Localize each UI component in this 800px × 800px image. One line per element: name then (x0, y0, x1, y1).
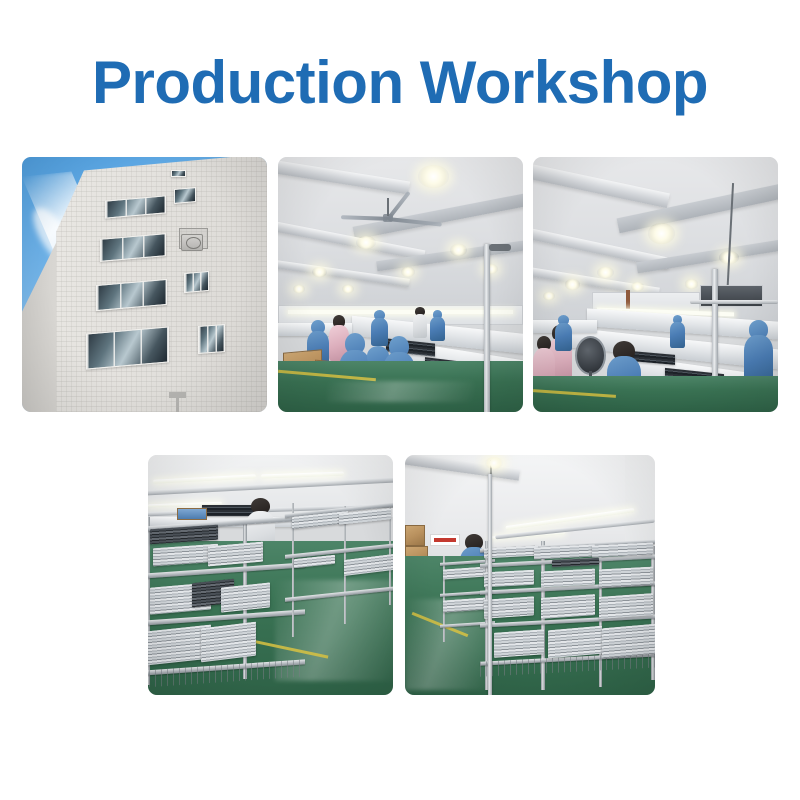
highbay-light (418, 165, 450, 188)
laptop-chassis-stack (201, 622, 256, 662)
window (171, 170, 186, 178)
laptop-chassis-stack (344, 554, 393, 576)
storage-rack (148, 517, 305, 685)
support-post (484, 244, 490, 412)
worker (371, 310, 388, 346)
storage-rack (285, 503, 393, 637)
laptop-chassis-stack (541, 568, 595, 587)
photo-workbenches[interactable] (533, 157, 778, 412)
worker (555, 315, 572, 351)
assembly-line-scene (278, 157, 523, 412)
wall-safety-sign (430, 534, 460, 546)
cardboard-box (405, 525, 425, 547)
photo-factory-building[interactable] (22, 157, 267, 412)
rack-shelf (285, 586, 393, 602)
overhead-rail (690, 300, 778, 304)
highbay-light (597, 267, 614, 279)
highbay-light (485, 457, 503, 469)
wall-fixture-pole (176, 394, 179, 412)
page-title: Production Workshop (0, 52, 800, 114)
photo-assembly-line[interactable] (278, 157, 523, 412)
page-root: Production Workshop (0, 0, 800, 800)
laptop-chassis-stack (602, 624, 655, 658)
window (198, 324, 225, 354)
laptop-chassis-stack (548, 625, 602, 658)
racks-right-scene (405, 455, 655, 695)
air-conditioner-unit (181, 234, 203, 252)
window (174, 187, 196, 204)
worker (413, 307, 428, 338)
worker-coat (413, 314, 428, 338)
laptop-chassis-stack (494, 629, 544, 658)
security-camera (489, 244, 511, 252)
highbay-light (356, 236, 376, 249)
worker-coat (670, 322, 685, 348)
rack-wire-mesh (148, 660, 305, 688)
worker (670, 315, 685, 348)
floor-reflection (327, 381, 474, 401)
back-wall-panel (700, 285, 764, 308)
laptop-chassis-stack (221, 582, 270, 612)
laptop-chassis-stack (208, 542, 263, 567)
worker-coat (555, 323, 572, 351)
photo-racks-right[interactable] (405, 455, 655, 695)
laptop-chassis-stack (599, 593, 653, 619)
storage-rack (480, 541, 655, 690)
laptop-chassis-stack (534, 544, 595, 559)
highbay-light (342, 285, 354, 294)
bench-strip-light (288, 310, 513, 314)
laptop-chassis-stack (150, 525, 218, 545)
support-post (488, 474, 493, 695)
photo-racks-left[interactable] (148, 455, 393, 695)
highbay-light (565, 279, 580, 289)
highbay-light (401, 267, 416, 277)
racks-left-scene (148, 455, 393, 695)
fan-drop-rod (387, 198, 389, 216)
highbay-light (312, 267, 327, 277)
laptop-chassis-stack (599, 567, 653, 588)
highbay-light (648, 223, 675, 243)
window (184, 271, 209, 294)
worker-coat (371, 318, 388, 346)
fan-head (575, 336, 607, 376)
laptop-chassis-stack (552, 558, 599, 568)
factory-building-scene (22, 157, 267, 412)
highbay-light (293, 285, 305, 294)
worker (430, 310, 445, 341)
workbenches-scene (533, 157, 778, 412)
laptop-chassis-stack (541, 595, 595, 620)
highbay-light (685, 279, 698, 288)
highbay-light (450, 244, 467, 257)
worker-coat (430, 317, 445, 341)
